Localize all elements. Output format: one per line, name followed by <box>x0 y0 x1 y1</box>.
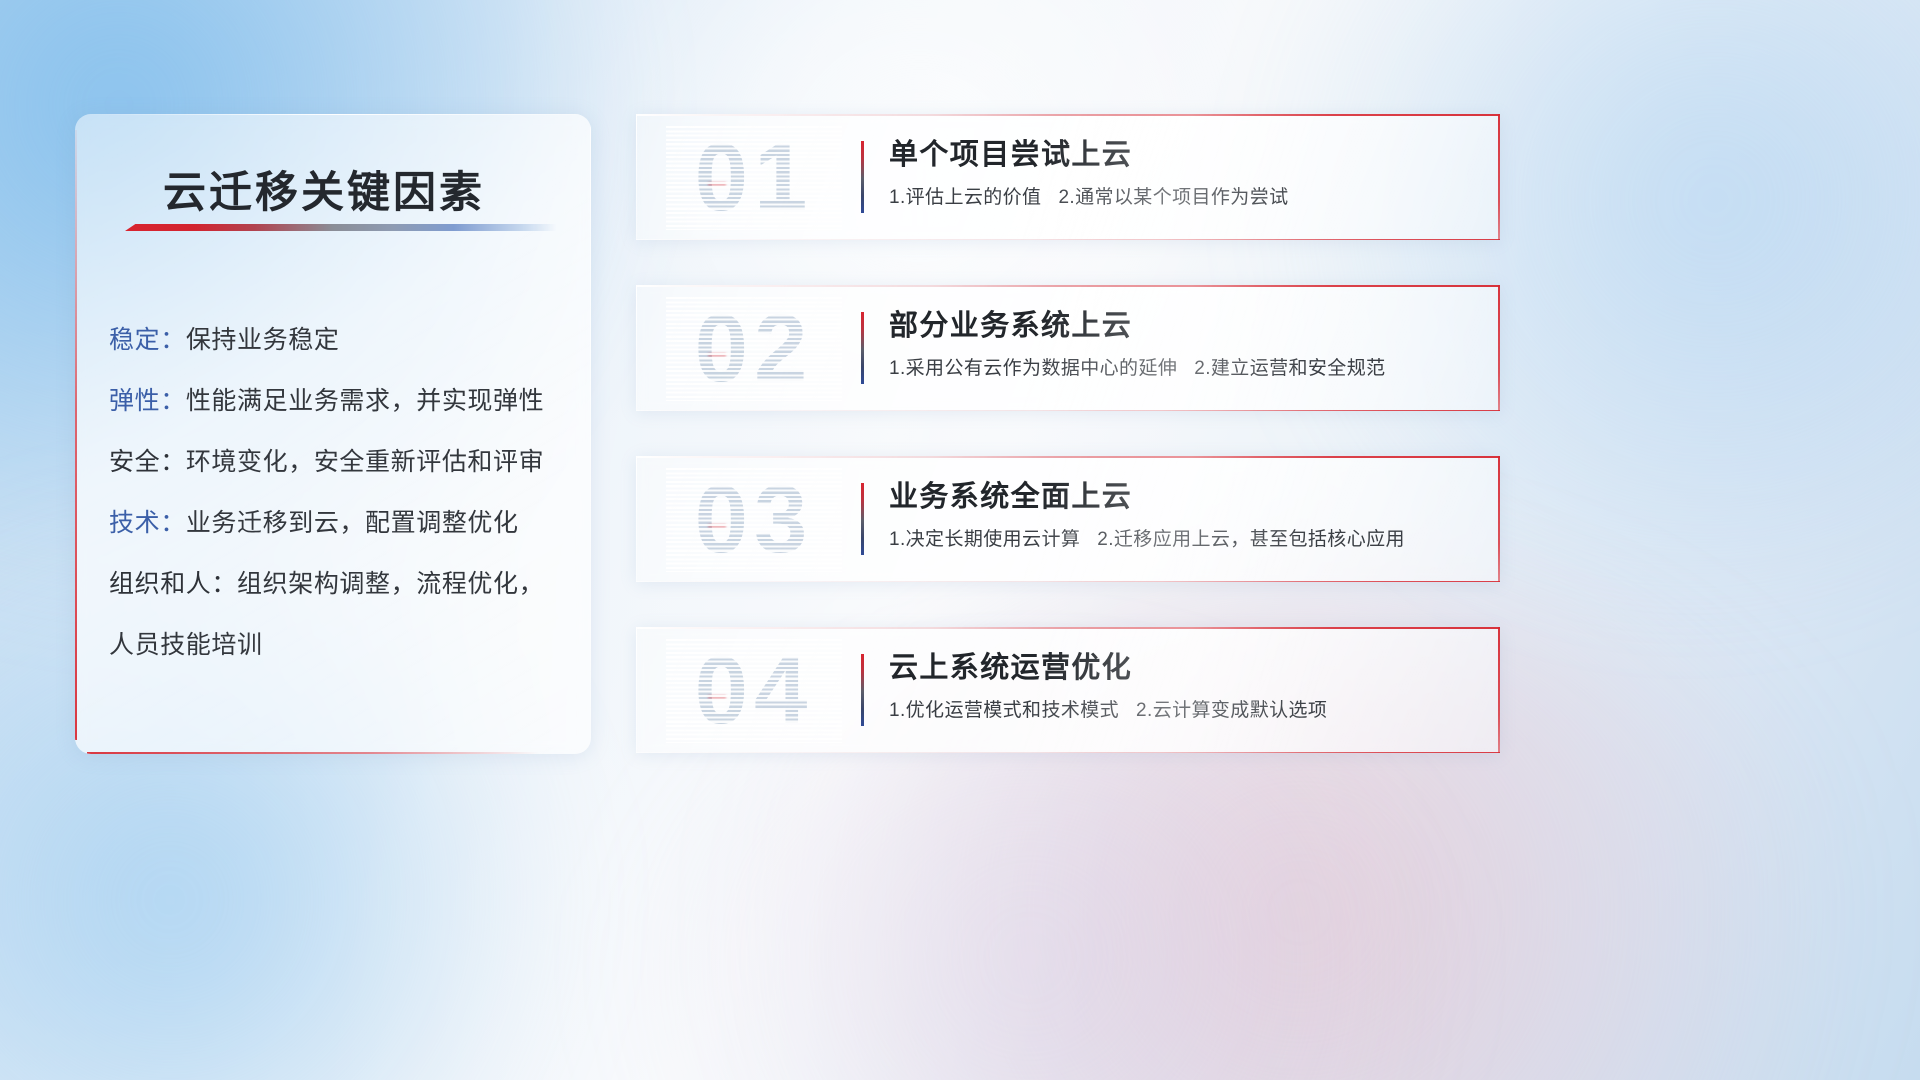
stage-content: 部分业务系统上云1.采用公有云作为数据中心的延伸2.建立运营和安全规范 <box>889 305 1476 382</box>
key-factor-text: 性能满足业务需求，并实现弹性 <box>186 387 544 415</box>
stage-title: 云上系统运营优化 <box>889 647 1476 689</box>
card-accent-border-top <box>636 114 1500 116</box>
key-factor-label: 弹性： <box>109 387 186 415</box>
migration-stage-card[interactable]: 03业务系统全面上云1.决定长期使用云计算2.迁移应用上云，甚至包括核心应用 <box>636 456 1500 582</box>
stage-description-item-1: 1.评估上云的价值 <box>889 187 1041 208</box>
stage-divider-bar <box>861 312 864 384</box>
card-accent-border-bottom <box>636 581 1500 583</box>
stage-number-red-fleck <box>708 182 726 186</box>
stage-description-item-2: 2.通常以某个项目作为尝试 <box>1058 187 1288 208</box>
card-accent-border-bottom <box>636 752 1500 754</box>
stage-description: 1.决定长期使用云计算2.迁移应用上云，甚至包括核心应用 <box>889 527 1476 553</box>
key-factor-text: 人员技能培训 <box>109 631 263 659</box>
background-blob-violet-bottom <box>620 710 1440 1080</box>
card-accent-border-top <box>636 456 1500 458</box>
stage-description-item-1: 1.优化运营模式和技术模式 <box>889 700 1119 721</box>
stage-divider-bar <box>861 654 864 726</box>
migration-stage-card[interactable]: 04云上系统运营优化1.优化运营模式和技术模式2.云计算变成默认选项 <box>636 627 1500 753</box>
stage-description-item-2: 2.云计算变成默认选项 <box>1136 700 1327 721</box>
key-factor-row: 安全：环境变化，安全重新评估和评审 <box>109 432 557 493</box>
key-factor-row: 人员技能培训 <box>109 615 557 676</box>
stage-description-item-1: 1.决定长期使用云计算 <box>889 529 1080 550</box>
stage-content: 云上系统运营优化1.优化运营模式和技术模式2.云计算变成默认选项 <box>889 647 1476 724</box>
stage-number-watermark: 02 <box>666 297 842 401</box>
key-factor-row: 稳定：保持业务稳定 <box>109 310 557 371</box>
key-factor-text: 组织架构调整，流程优化， <box>237 570 544 598</box>
stage-number-watermark: 04 <box>666 639 842 743</box>
stage-description: 1.优化运营模式和技术模式2.云计算变成默认选项 <box>889 698 1476 724</box>
stage-number-text: 04 <box>666 639 842 743</box>
panel-edge-highlight-top <box>85 114 581 115</box>
stage-description: 1.采用公有云作为数据中心的延伸2.建立运营和安全规范 <box>889 356 1476 382</box>
key-factor-label: 安全： <box>109 448 186 476</box>
stage-number-text: 01 <box>666 126 842 230</box>
stage-divider-bar <box>861 141 864 213</box>
panel-accent-border-bottom <box>87 752 539 754</box>
stage-description-item-2: 2.迁移应用上云，甚至包括核心应用 <box>1097 529 1405 550</box>
stage-divider-bar <box>861 483 864 555</box>
stage-description-item-2: 2.建立运营和安全规范 <box>1194 358 1385 379</box>
stage-title: 单个项目尝试上云 <box>889 134 1476 176</box>
key-factor-text: 环境变化，安全重新评估和评审 <box>186 448 544 476</box>
key-factor-label: 技术： <box>109 509 186 537</box>
migration-stage-card[interactable]: 01单个项目尝试上云1.评估上云的价值2.通常以某个项目作为尝试 <box>636 114 1500 240</box>
stage-title: 业务系统全面上云 <box>889 476 1476 518</box>
stage-description: 1.评估上云的价值2.通常以某个项目作为尝试 <box>889 185 1476 211</box>
title-gradient-rule <box>125 224 557 231</box>
key-factor-row: 组织和人：组织架构调整，流程优化， <box>109 554 557 615</box>
key-factors-list: 稳定：保持业务稳定弹性：性能满足业务需求，并实现弹性安全：环境变化，安全重新评估… <box>75 310 591 676</box>
stage-content: 业务系统全面上云1.决定长期使用云计算2.迁移应用上云，甚至包括核心应用 <box>889 476 1476 553</box>
stage-description-item-1: 1.采用公有云作为数据中心的延伸 <box>889 358 1177 379</box>
card-edge-highlight-left <box>636 627 637 753</box>
card-accent-border-right <box>1498 456 1500 582</box>
key-factor-label: 组织和人： <box>109 570 237 598</box>
card-edge-highlight-left <box>636 114 637 240</box>
key-factor-text: 业务迁移到云，配置调整优化 <box>186 509 519 537</box>
card-edge-highlight-left <box>636 285 637 411</box>
stage-number-text: 03 <box>666 468 842 572</box>
stage-title: 部分业务系统上云 <box>889 305 1476 347</box>
card-accent-border-top <box>636 285 1500 287</box>
key-factor-label: 稳定： <box>109 326 186 354</box>
card-accent-border-bottom <box>636 239 1500 241</box>
key-factors-panel: 云迁移关键因素 稳定：保持业务稳定弹性：性能满足业务需求，并实现弹性安全：环境变… <box>75 114 591 754</box>
stage-number-text: 02 <box>666 297 842 401</box>
card-accent-border-right <box>1498 114 1500 240</box>
card-accent-border-right <box>1498 285 1500 411</box>
stage-content: 单个项目尝试上云1.评估上云的价值2.通常以某个项目作为尝试 <box>889 134 1476 211</box>
stage-number-watermark: 03 <box>666 468 842 572</box>
panel-title: 云迁移关键因素 <box>163 158 485 220</box>
slide-canvas: 云迁移关键因素 稳定：保持业务稳定弹性：性能满足业务需求，并实现弹性安全：环境变… <box>0 0 1920 1080</box>
key-factor-text: 保持业务稳定 <box>186 326 340 354</box>
card-edge-highlight-left <box>636 456 637 582</box>
stage-number-red-fleck <box>708 695 726 699</box>
stage-number-red-fleck <box>708 353 726 357</box>
card-accent-border-top <box>636 627 1500 629</box>
stage-number-red-fleck <box>708 524 726 528</box>
card-accent-border-bottom <box>636 410 1500 412</box>
migration-stage-card[interactable]: 02部分业务系统上云1.采用公有云作为数据中心的延伸2.建立运营和安全规范 <box>636 285 1500 411</box>
card-accent-border-right <box>1498 627 1500 753</box>
key-factor-row: 技术：业务迁移到云，配置调整优化 <box>109 493 557 554</box>
key-factor-row: 弹性：性能满足业务需求，并实现弹性 <box>109 371 557 432</box>
stage-number-watermark: 01 <box>666 126 842 230</box>
